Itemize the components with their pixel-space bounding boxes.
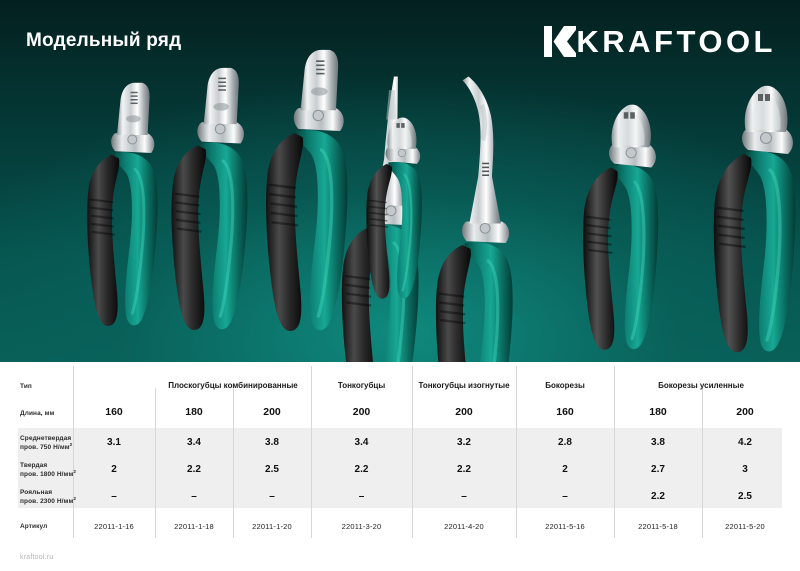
- group-header-bent-nose: Тонкогубцы изогнутые: [412, 381, 516, 390]
- divider-4: [311, 366, 312, 538]
- length-col-7: 180: [614, 406, 702, 418]
- divider-5: [412, 366, 413, 538]
- tool-heavy-side-cutters-200: [714, 86, 796, 353]
- row-label-medium-hard: Среднетвердая пров. 750 Н/мм2: [20, 434, 72, 453]
- article-col-7: 22011-5-18: [614, 522, 702, 531]
- piano-col-3: –: [233, 491, 311, 502]
- tool-combination-pliers-200: [266, 50, 347, 331]
- piano-col-5: –: [412, 491, 516, 502]
- row-label-hard-line2: пров. 1800 Н/мм2: [20, 470, 76, 479]
- medium-hard-col-5: 3.2: [412, 437, 516, 448]
- article-col-2: 22011-1-18: [155, 522, 233, 531]
- tool-heavy-side-cutters-180: [583, 105, 658, 350]
- article-col-8: 22011-5-20: [702, 522, 788, 531]
- row-label-hard: Твердая пров. 1800 Н/мм2: [20, 461, 76, 480]
- article-col-5: 22011-4-20: [412, 522, 516, 531]
- specs-table: Тип Длина, мм Среднетвердая пров. 750 Н/…: [0, 362, 800, 571]
- site-url[interactable]: kraftool.ru: [20, 554, 53, 561]
- medium-hard-col-2: 3.4: [155, 437, 233, 448]
- divider-1: [73, 366, 74, 538]
- group-header-heavy-side-cutters: Бокорезы усиленные: [614, 381, 788, 390]
- group-header-combination: Плоскогубцы комбинированные: [155, 381, 311, 390]
- piano-col-6: –: [516, 491, 614, 502]
- divider-6: [516, 366, 517, 538]
- row-label-medium-hard-line2: пров. 750 Н/мм2: [20, 443, 72, 452]
- hard-col-5: 2.2: [412, 464, 516, 475]
- piano-col-1: –: [73, 491, 155, 502]
- article-col-6: 22011-5-16: [516, 522, 614, 531]
- tool-lineup: [0, 0, 800, 362]
- row-label-medium-hard-line1: Среднетвердая: [20, 434, 72, 443]
- length-col-1: 160: [73, 406, 155, 418]
- piano-col-2: –: [155, 491, 233, 502]
- sup-2: 2: [70, 442, 73, 447]
- row-label-hard-line1: Твердая: [20, 461, 76, 470]
- piano-col-4: –: [311, 491, 412, 502]
- divider-7: [614, 366, 615, 538]
- hard-col-7: 2.7: [614, 464, 702, 475]
- length-col-2: 180: [155, 406, 233, 418]
- hard-col-3: 2.5: [233, 464, 311, 475]
- article-col-3: 22011-1-20: [233, 522, 311, 531]
- hard-col-2: 2.2: [155, 464, 233, 475]
- row-label-article: Артикул: [20, 522, 47, 531]
- hard-col-6: 2: [516, 464, 614, 475]
- hard-col-4: 2.2: [311, 464, 412, 475]
- medium-hard-col-4: 3.4: [311, 437, 412, 448]
- group-header-side-cutters: Бокорезы: [516, 381, 614, 390]
- catalog-page: Модельный ряд KRAFTOOL: [0, 0, 800, 571]
- article-col-4: 22011-3-20: [311, 522, 412, 531]
- group-header-long-nose: Тонкогубцы: [311, 381, 412, 390]
- hard-col-1: 2: [73, 464, 155, 475]
- piano-col-7: 2.2: [614, 491, 702, 502]
- tools-illustration: [0, 0, 800, 362]
- hard-col-8: 3: [702, 464, 788, 475]
- article-col-1: 22011-1-16: [73, 522, 155, 531]
- length-col-8: 200: [702, 406, 788, 418]
- length-col-3: 200: [233, 406, 311, 418]
- tool-bent-nose-pliers-200: [436, 76, 513, 362]
- medium-hard-col-6: 2.8: [516, 437, 614, 448]
- row-label-piano: Рояльная пров. 2300 Н/мм2: [20, 488, 76, 507]
- length-col-5: 200: [412, 406, 516, 418]
- hero-banner: Модельный ряд KRAFTOOL: [0, 0, 800, 362]
- length-col-4: 200: [311, 406, 412, 418]
- tool-combination-pliers-180: [172, 68, 248, 330]
- medium-hard-col-3: 3.8: [233, 437, 311, 448]
- row-label-type: Тип: [20, 382, 32, 391]
- medium-hard-col-1: 3.1: [73, 437, 155, 448]
- length-col-6: 160: [516, 406, 614, 418]
- row-label-length: Длина, мм: [20, 409, 54, 418]
- tool-combination-pliers-160: [87, 83, 157, 326]
- row-label-piano-line1: Рояльная: [20, 488, 76, 497]
- row-label-piano-line2: пров. 2300 Н/мм2: [20, 497, 76, 506]
- medium-hard-col-8: 4.2: [702, 437, 788, 448]
- medium-hard-col-7: 3.8: [614, 437, 702, 448]
- piano-col-8: 2.5: [702, 491, 788, 502]
